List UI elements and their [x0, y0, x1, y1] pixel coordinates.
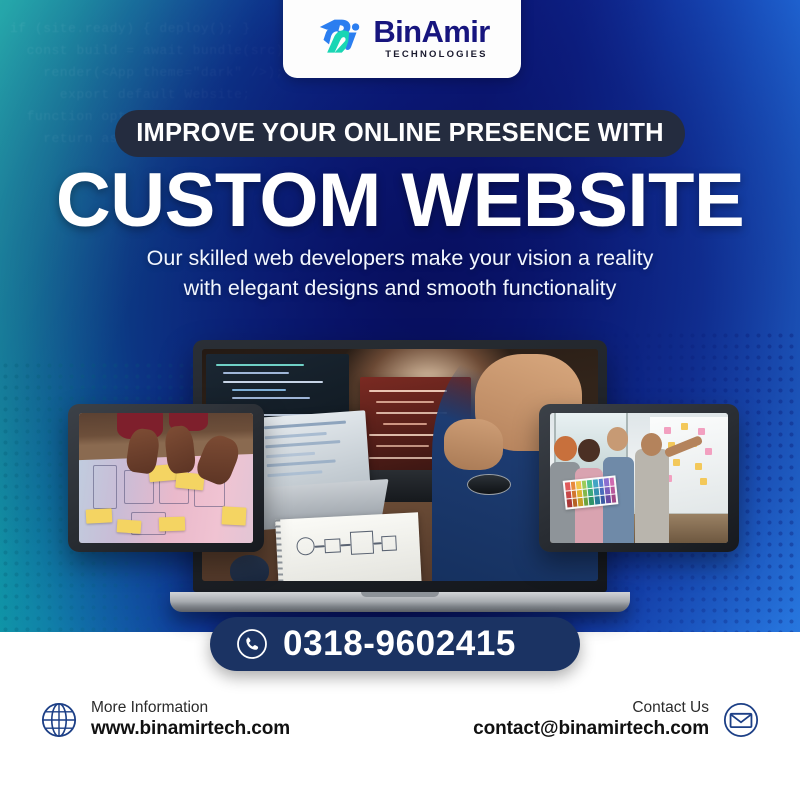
tablet-right-screen	[550, 413, 728, 543]
globe-icon	[40, 701, 78, 739]
color-swatch-fan	[563, 475, 619, 509]
device-mockup-group	[0, 0, 800, 680]
brand-name: BinAmir	[373, 16, 489, 47]
brand-tagline: TECHNOLOGIES	[385, 50, 489, 60]
person-1-head	[554, 436, 577, 461]
tablet-left-screen	[79, 413, 253, 543]
person-4-body	[635, 449, 669, 543]
kicker-text: IMPROVE YOUR ONLINE PRESENCE WITH	[136, 119, 664, 148]
email-contact-group[interactable]: Contact Us contact@binamirtech.com	[473, 698, 760, 741]
person-3-head	[607, 427, 628, 450]
email-label: Contact Us	[473, 698, 709, 717]
poster-canvas: if (site.ready) { deploy(); } const buil…	[0, 0, 800, 800]
footer-contact-row: More Information www.binamirtech.com Con…	[0, 698, 800, 741]
phone-contact-badge[interactable]: 0318-9602415	[210, 617, 580, 671]
phone-icon	[236, 628, 268, 660]
subheadline-line-1: Our skilled web developers make your vis…	[0, 243, 800, 273]
team-whiteboard-photo	[550, 413, 728, 543]
headline: CUSTOM WEBSITE	[0, 163, 800, 239]
person-4-head	[641, 433, 662, 456]
envelope-icon	[722, 701, 760, 739]
brand-wordmark: BinAmir TECHNOLOGIES	[373, 16, 489, 60]
laptop-base	[170, 592, 630, 612]
brand-logo-card[interactable]: BinAmir TECHNOLOGIES	[283, 0, 521, 78]
wireframing-photo	[79, 413, 253, 543]
website-url[interactable]: www.binamirtech.com	[91, 717, 290, 741]
email-address[interactable]: contact@binamirtech.com	[473, 717, 709, 741]
computer-mouse	[230, 555, 270, 581]
website-label: More Information	[91, 698, 290, 717]
website-contact-group[interactable]: More Information www.binamirtech.com	[40, 698, 290, 741]
headline-text: CUSTOM WEBSITE	[56, 158, 744, 243]
wristwatch	[467, 474, 511, 495]
developer-hand	[444, 419, 503, 470]
tablet-right-mockup	[539, 404, 739, 552]
laptop-hinge-notch	[361, 592, 439, 597]
phone-number: 0318-9602415	[283, 624, 516, 664]
tablet-left-mockup	[68, 404, 264, 552]
binamir-monogram-icon	[314, 16, 366, 60]
subheadline: Our skilled web developers make your vis…	[0, 243, 800, 303]
sketch-notebook	[275, 512, 421, 581]
person-2-head	[578, 439, 599, 462]
kicker-banner: IMPROVE YOUR ONLINE PRESENCE WITH	[115, 110, 685, 157]
website-textblock: More Information www.binamirtech.com	[91, 698, 290, 741]
subheadline-line-2: with elegant designs and smooth function…	[0, 273, 800, 303]
email-textblock: Contact Us contact@binamirtech.com	[473, 698, 709, 741]
